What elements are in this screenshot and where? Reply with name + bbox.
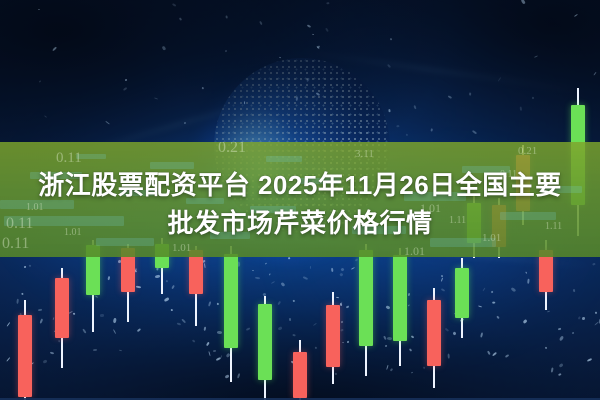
candle-body [258,304,272,380]
candle-body [293,352,307,398]
ticker-bar [266,156,302,162]
ticker-number: 0.21 [218,142,246,156]
candle-body [393,255,407,341]
candle-body [427,300,441,366]
headline-line-2: 批发市场芹菜价格行情 [0,204,600,242]
ticker-number: 1.01 [172,243,191,254]
ticker-number: 1.01 [404,245,425,257]
headline-line-1: 浙江股票配资平台 2025年11月26日全国主要 [38,170,561,200]
candle-body [224,254,238,348]
ticker-number: 3.11 [355,149,374,160]
candle-body [18,315,32,397]
candle-body [326,305,340,367]
ticker-number: 0.11 [56,151,82,166]
banner-image: 0.110.211.110.213.111.010.111.010.111.01… [0,0,600,400]
ticker-number: 0.21 [518,146,537,157]
page-title: 浙江股票配资平台 2025年11月26日全国主要 批发市场芹菜价格行情 [0,166,600,242]
candle-body [55,278,69,338]
candle-body [359,250,373,346]
